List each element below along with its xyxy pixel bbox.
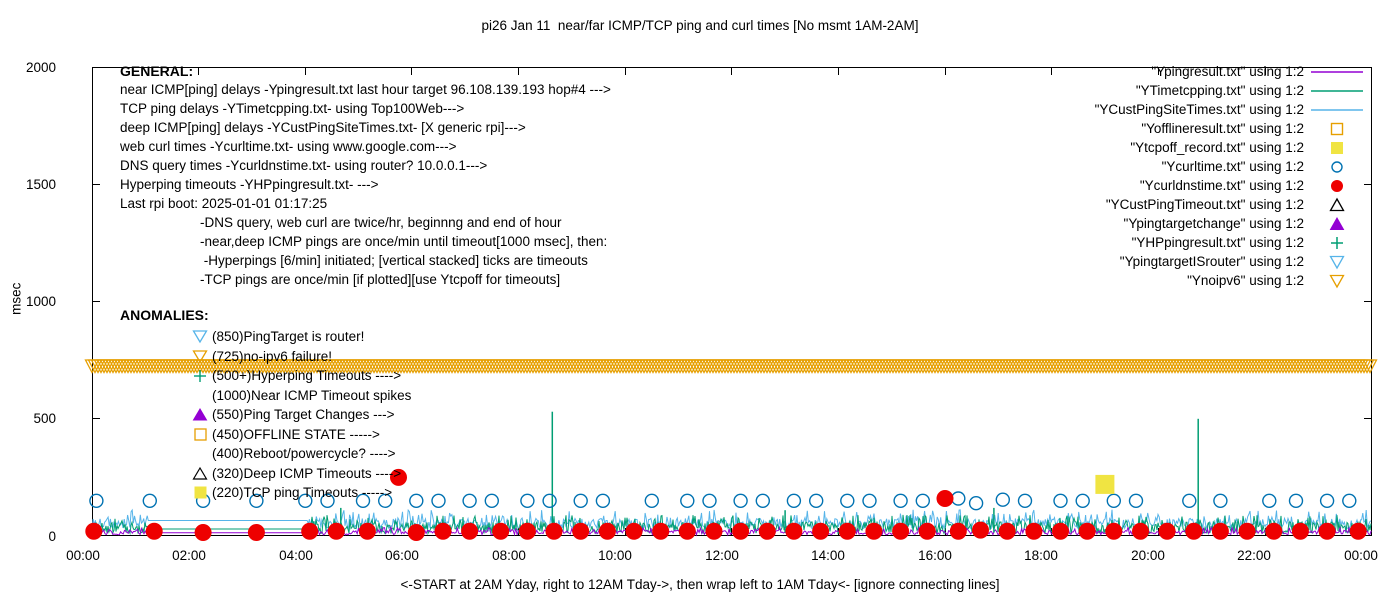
anomaly-row-tcp-ping-timeouts: (220)TCP ping Timeouts -----> [190,483,411,503]
general-note-1: -near,deep ICMP pings are once/min until… [120,235,611,254]
data-point-curl [734,494,747,507]
data-point-curl [787,494,800,507]
data-point-dns [759,523,775,539]
data-point-dns [1079,523,1095,539]
data-point-dns [573,523,589,539]
data-point-dns [919,523,935,539]
data-point-dns [493,523,509,539]
legend-item[interactable]: "Ycurldnstime.txt" using 1:2 [950,176,1370,195]
legend-item[interactable]: "Ypingresult.txt" using 1:2 [950,62,1370,81]
data-point-curl [1343,494,1356,507]
x-tick-1600: 16:00 [900,549,970,563]
data-point-dns [302,523,318,539]
anomaly-label-8: (220)TCP ping Timeouts -----> [212,485,392,500]
anomaly-row-reboot: (400)Reboot/powercycle? ----> [190,444,411,464]
data-point-curl [596,494,609,507]
y-tick-0: 0 [10,530,56,544]
data-point-curl [810,494,823,507]
x-tick-0400: 04:00 [261,549,331,563]
legend-symbol-triangle-down-open-icon [1304,271,1370,290]
data-point-curl [1263,494,1276,507]
data-point-dns [813,523,829,539]
data-point-dns [1212,523,1228,539]
data-point-curl [1054,494,1067,507]
y-tick-1500: 1500 [10,178,56,192]
legend-symbol-line-icon [1304,100,1370,119]
data-point-curl [681,494,694,507]
series-tcp-spikes [341,412,1198,533]
general-line-3: web curl times -Ycurltime.txt- using www… [120,140,611,159]
data-point-dns [973,522,989,538]
data-point-dns [786,523,802,539]
triangle-up-filled-purple-icon [190,406,210,424]
legend-item-label: "Yofflineresult.txt" using 1:2 [1141,121,1304,136]
data-point-dns [1292,523,1308,539]
anomaly-label-4: (550)Ping Target Changes ---> [212,407,394,422]
data-point-dns [1239,523,1255,539]
data-point-dns [146,523,162,539]
data-point-dns [599,523,615,539]
data-point-dns [1026,523,1042,539]
data-point-dns [408,525,424,541]
data-point-curl [1019,494,1032,507]
data-point-curl [521,494,534,507]
data-point-dns [86,523,102,539]
data-point-dns [679,523,695,539]
anomaly-row-offline-state: (450)OFFLINE STATE -----> [190,425,411,445]
x-tick-0000a: 00:00 [48,549,118,563]
y-tick-2000: 2000 [10,61,56,75]
general-info-block: GENERAL: near ICMP[ping] delays -Ypingre… [120,64,611,292]
anomaly-row-pingtarget-router: (850)PingTarget is router! [190,327,411,347]
data-point-curl [432,494,445,507]
data-point-curl [894,494,907,507]
data-point-curl [841,494,854,507]
triangle-down-open-orange-icon [190,347,210,365]
x-tick-0200: 02:00 [154,549,224,563]
x-tick-1200: 12:00 [687,549,757,563]
x-tick-2200: 22:00 [1219,549,1289,563]
data-point-dns [462,523,478,539]
no-icon [190,445,210,463]
data-point-curl [1076,494,1089,507]
anomalies-heading: ANOMALIES: [120,308,411,327]
data-point-dns [328,523,344,539]
series-tcpoff-record [1096,475,1114,493]
anomaly-label-6: (400)Reboot/powercycle? ----> [212,446,395,461]
legend-item-label: "Ycurltime.txt" using 1:2 [1162,159,1304,174]
anomalies-block: ANOMALIES: (850)PingTarget is router! (7… [120,308,411,503]
legend-item-label: "YHPpingresult.txt" using 1:2 [1132,235,1304,250]
legend-symbol-circle-open-icon [1304,157,1370,176]
data-point-curl [1130,494,1143,507]
no-icon [190,386,210,404]
data-point-dns [839,523,855,539]
general-note-2: -Hyperpings [6/min] initiated; [vertical… [120,254,611,273]
data-point-curl [952,492,965,505]
x-tick-1400: 14:00 [793,549,863,563]
data-point-curl [574,494,587,507]
data-point-dns [519,523,535,539]
anomaly-label-7: (320)Deep ICMP Timeouts ----> [212,466,401,481]
data-point-curl [463,494,476,507]
legend-item-label: "YpingtargetISrouter" using 1:2 [1120,254,1304,269]
data-point-tcpoff [1096,475,1114,493]
square-filled-yellow-icon [190,484,210,502]
data-point-dns [195,525,211,541]
data-point-curl [1107,494,1120,507]
anomaly-row-noipv6: (725)no-ipv6 failure! [190,347,411,367]
general-line-2: deep ICMP[ping] delays -YCustPingSiteTim… [120,121,611,140]
data-point-dns [1350,523,1366,539]
data-point-curl [1290,494,1303,507]
anomaly-label-3: (1000)Near ICMP Timeout spikes [212,388,411,403]
data-point-curl [543,494,556,507]
anomaly-row-ping-target-changes: (550)Ping Target Changes ---> [190,405,411,425]
legend-symbol-plus-icon [1304,233,1370,252]
general-line-0: near ICMP[ping] delays -Ypingresult.txt … [120,83,611,102]
data-point-curl [916,494,929,507]
legend-item-label: "Ycurldnstime.txt" using 1:2 [1140,178,1304,193]
data-point-dns [626,523,642,539]
anomaly-label-2: (500+)Hyperping Timeouts ----> [212,368,401,383]
data-point-dns [359,523,375,539]
legend-item-label: "Ypingtargetchange" using 1:2 [1124,216,1304,231]
y-tick-500: 500 [10,412,56,426]
general-heading: GENERAL: [120,64,611,83]
legend-symbol-triangle-down-open-icon [1304,252,1370,271]
anomaly-label-0: (850)PingTarget is router! [212,329,364,344]
general-note-0: -DNS query, web curl are twice/hr, begin… [120,216,611,235]
legend-item[interactable]: "YpingtargetISrouter" using 1:2 [950,252,1370,271]
legend-item[interactable]: "Ypingtargetchange" using 1:2 [950,214,1370,233]
general-line-4: DNS query times -Ycurldnstime.txt- using… [120,159,611,178]
legend-item[interactable]: "Ycurltime.txt" using 1:2 [950,157,1370,176]
data-point-dns [435,523,451,539]
legend-symbol-line-icon [1304,81,1370,100]
data-point-curl [863,494,876,507]
x-tick-0800: 08:00 [474,549,544,563]
x-tick-1000: 10:00 [580,549,650,563]
data-point-dns [733,523,749,539]
data-point-curl [703,494,716,507]
legend-item[interactable]: "YCustPingTimeout.txt" using 1:2 [950,195,1370,214]
page-title: pi26 Jan 11 near/far ICMP/TCP ping and c… [0,19,1400,33]
anomaly-label-1: (725)no-ipv6 failure! [212,349,332,364]
data-point-dns [1106,523,1122,539]
y-tick-1000: 1000 [10,295,56,309]
data-point-curl [90,494,103,507]
anomaly-label-5: (450)OFFLINE STATE -----> [212,427,380,442]
data-point-dns [248,525,264,541]
legend-symbol-triangle-up-filled-icon [1304,214,1370,233]
x-tick-0000b: 00:00 [1326,549,1396,563]
data-point-curl [1183,494,1196,507]
triangle-down-open-blue-icon [190,328,210,346]
general-line-5: Hyperping timeouts -YHPpingresult.txt- -… [120,178,611,197]
data-point-curl [410,494,423,507]
legend-symbol-square-filled-icon [1304,138,1370,157]
data-point-dns [1266,523,1282,539]
general-line-6: Last rpi boot: 2025-01-01 01:17:25 [120,197,611,216]
general-note-3: -TCP pings are once/min [if plotted][use… [120,273,611,292]
triangle-up-open-black-icon [190,464,210,482]
legend-symbol-triangle-up-open-icon [1304,195,1370,214]
data-point-curl [756,494,769,507]
legend-item-label: "Ytcpoff_record.txt" using 1:2 [1130,140,1304,155]
data-point-dns [1186,523,1202,539]
square-open-orange-icon [190,425,210,443]
data-point-dns [999,523,1015,539]
data-point-curl [996,493,1009,506]
x-tick-0600: 06:00 [367,549,437,563]
legend-symbol-circle-filled-icon [1304,176,1370,195]
legend-item[interactable]: "YHPpingresult.txt" using 1:2 [950,233,1370,252]
legend-item[interactable]: "Yofflineresult.txt" using 1:2 [950,119,1370,138]
chart-page: pi26 Jan 11 near/far ICMP/TCP ping and c… [0,0,1400,600]
legend-item-label: "YCustPingTimeout.txt" using 1:2 [1106,197,1304,212]
data-point-dns [950,523,966,539]
plus-green-icon [190,367,210,385]
legend-symbol-square-open-icon [1304,119,1370,138]
legend-item-label: "YCustPingSiteTimes.txt" using 1:2 [1095,102,1304,117]
data-point-dns [937,491,953,507]
data-point-dns [1159,523,1175,539]
data-point-curl [970,497,983,510]
legend-item-label: "YTimetcpping.txt" using 1:2 [1136,83,1304,98]
data-point-dns [706,523,722,539]
general-line-1: TCP ping delays -YTimetcpping.txt- using… [120,102,611,121]
data-point-dns [893,523,909,539]
data-point-dns [1133,523,1149,539]
legend-item[interactable]: "YTimetcpping.txt" using 1:2 [950,81,1370,100]
anomaly-row-near-icmp-spikes: (1000)Near ICMP Timeout spikes [190,386,411,406]
anomaly-row-hyperping-timeouts: (500+)Hyperping Timeouts ----> [190,366,411,386]
x-tick-1800: 18:00 [1006,549,1076,563]
legend: "Ypingresult.txt" using 1:2"YTimetcpping… [950,62,1370,290]
legend-symbol-line-icon [1304,62,1370,81]
legend-item-label: "Ypingresult.txt" using 1:2 [1151,64,1304,79]
data-point-dns [866,523,882,539]
legend-item[interactable]: "YCustPingSiteTimes.txt" using 1:2 [950,100,1370,119]
data-point-curl [1321,494,1334,507]
legend-item[interactable]: "Ytcpoff_record.txt" using 1:2 [950,138,1370,157]
data-point-curl [485,494,498,507]
data-point-dns [1319,523,1335,539]
legend-item[interactable]: "Ynoipv6" using 1:2 [950,271,1370,290]
x-tick-2000: 20:00 [1113,549,1183,563]
data-point-curl [645,494,658,507]
anomaly-row-deep-icmp-timeouts: (320)Deep ICMP Timeouts ----> [190,464,411,484]
legend-item-label: "Ynoipv6" using 1:2 [1187,273,1304,288]
data-point-dns [653,523,669,539]
data-point-dns [1053,523,1069,539]
x-axis-caption: <-START at 2AM Yday, right to 12AM Tday-… [0,578,1400,592]
data-point-curl [1214,494,1227,507]
data-point-dns [546,523,562,539]
